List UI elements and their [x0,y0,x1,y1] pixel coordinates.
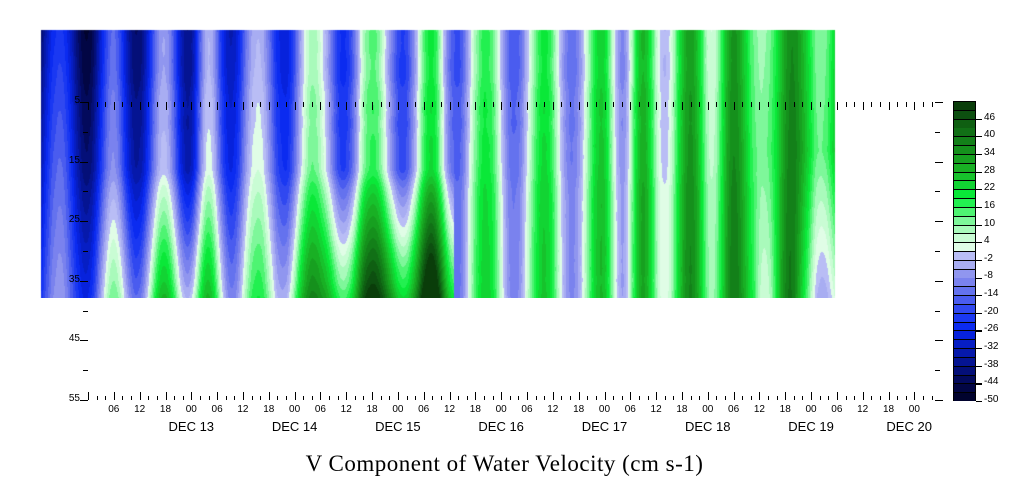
x-tick-bottom [570,396,571,401]
x-tick-top [699,102,700,107]
x-tick-top [630,102,631,110]
colorbar-band [954,181,975,189]
colorbar-band [954,252,975,260]
x-day-label: DEC 19 [766,419,856,434]
x-tick-bottom [200,396,201,401]
x-tick-bottom [932,396,933,401]
x-tick-bottom [510,396,511,401]
colorbar-tick [976,401,982,402]
x-tick-top [613,102,614,107]
y-tick-minor-right [935,370,940,371]
x-tick-top [820,102,821,107]
x-tick-top [854,102,855,107]
y-tick-minor-right [935,251,940,252]
x-hour-label: 06 [720,404,748,415]
x-hour-label: 12 [126,404,154,415]
colorbar-tick-label: 10 [984,218,995,229]
colorbar-tick-label: 46 [984,112,995,123]
x-tick-top [114,102,115,110]
colorbar-tick-label: -20 [984,306,998,317]
colorbar-tick-label: -44 [984,376,998,387]
x-tick-bottom [243,392,244,400]
colorbar-band [954,120,975,128]
y-tick-minor [83,311,88,312]
colorbar-tick [976,295,982,296]
x-hour-label: 12 [436,404,464,415]
x-tick-top [544,102,545,107]
x-tick-top [424,102,425,110]
x-tick-bottom [656,392,657,400]
x-tick-top [691,102,692,107]
x-tick-bottom [897,396,898,401]
x-tick-bottom [475,392,476,400]
x-tick-top [493,102,494,107]
x-day-label: DEC 16 [456,419,546,434]
colorbar-tick [976,172,982,173]
x-tick-bottom [329,396,330,401]
x-tick-top [518,102,519,107]
x-tick-top [501,102,502,110]
x-tick-bottom [820,396,821,401]
x-tick-bottom [174,396,175,401]
x-tick-top [871,102,872,107]
x-tick-bottom [579,392,580,400]
x-tick-top [260,102,261,107]
colorbar-band [954,226,975,234]
x-hour-label: 06 [100,404,128,415]
x-tick-top [312,102,313,107]
colorbar-band [954,376,975,384]
y-tick-major [80,340,88,341]
x-tick-bottom [846,396,847,401]
y-tick-label: 45 [48,333,80,344]
colorbar-tick [976,366,982,367]
colorbar-tick-label: -14 [984,288,998,299]
x-tick-top [742,102,743,107]
x-hour-label: 18 [461,404,489,415]
x-tick-top [777,102,778,107]
x-tick-top [389,102,390,107]
x-hour-label: 18 [255,404,283,415]
x-hour-label: 00 [900,404,928,415]
x-tick-top [527,102,528,110]
x-tick-top [622,102,623,107]
x-tick-bottom [501,392,502,400]
colorbar-band [954,393,975,401]
x-tick-bottom [209,396,210,401]
x-tick-bottom [450,392,451,400]
colorbar-band [954,331,975,339]
x-tick-top [226,102,227,107]
colorbar-band [954,111,975,119]
x-tick-bottom [716,396,717,401]
x-tick-bottom [157,396,158,401]
x-tick-top [665,102,666,107]
x-tick-top [441,102,442,107]
x-tick-bottom [811,392,812,400]
x-day-label: DEC 14 [250,419,340,434]
x-tick-top [579,102,580,110]
x-hour-label: 12 [642,404,670,415]
x-tick-bottom [742,396,743,401]
x-tick-top [458,102,459,107]
colorbar-band [954,340,975,348]
x-tick-bottom [277,396,278,401]
x-hour-label: 12 [229,404,257,415]
x-tick-top [605,102,606,110]
colorbar-band [954,217,975,225]
colorbar-tick [976,278,982,279]
x-tick-top [932,102,933,107]
x-hour-label: 12 [849,404,877,415]
colorbar-tick-label: -32 [984,341,998,352]
x-tick-top [596,102,597,107]
x-tick-top [811,102,812,110]
x-tick-bottom [355,396,356,401]
x-tick-top [346,102,347,110]
x-tick-top [363,102,364,107]
x-tick-top [148,102,149,107]
y-tick-label: 5 [48,95,80,106]
colorbar-tick-label: -26 [984,323,998,334]
x-tick-bottom [828,396,829,401]
x-tick-top [252,102,253,107]
x-tick-top [682,102,683,110]
x-tick-top [673,102,674,107]
y-tick-minor-right [935,191,940,192]
colorbar-band [954,164,975,172]
y-tick-label: 55 [48,393,80,404]
x-tick-top [785,102,786,110]
x-hour-label: 18 [668,404,696,415]
colorbar-band [954,146,975,154]
x-day-label: DEC 20 [864,419,954,434]
x-tick-top [174,102,175,107]
colorbar-tick [976,154,982,155]
x-tick-top [656,102,657,110]
x-tick-bottom [914,392,915,400]
x-tick-top [338,102,339,107]
y-tick-major-right [935,102,943,103]
colorbar-band [954,278,975,286]
x-tick-bottom [260,396,261,401]
colorbar-band [954,261,975,269]
x-tick-top [157,102,158,107]
y-tick-major-right [935,281,943,282]
x-tick-bottom [639,396,640,401]
x-tick-top [398,102,399,110]
x-hour-label: 00 [281,404,309,415]
colorbar-band [954,305,975,313]
x-tick-bottom [544,396,545,401]
colorbar-band [954,314,975,322]
colorbar-band [954,199,975,207]
x-hour-label: 00 [177,404,205,415]
x-tick-top [536,102,537,107]
x-tick-bottom [880,396,881,401]
y-tick-label: 15 [48,155,80,166]
y-tick-major-right [935,221,943,222]
colorbar-band [954,137,975,145]
x-tick-bottom [338,396,339,401]
x-tick-top [863,102,864,110]
colorbar-band [954,128,975,136]
x-tick-bottom [777,396,778,401]
x-tick-top [88,102,89,110]
y-tick-label: 25 [48,214,80,225]
colorbar-tick [976,260,982,261]
x-hour-label: 06 [203,404,231,415]
x-day-label: DEC 15 [353,419,443,434]
x-hour-label: 00 [590,404,618,415]
x-tick-bottom [863,392,864,400]
colorbar-band [954,323,975,331]
x-hour-label: 06 [823,404,851,415]
x-tick-top [329,102,330,107]
x-tick-bottom [269,392,270,400]
x-tick-bottom [312,396,313,401]
x-tick-top [467,102,468,107]
colorbar-tick-label: 22 [984,182,995,193]
colorbar-band [954,243,975,251]
x-tick-bottom [183,396,184,401]
x-tick-bottom [923,396,924,401]
x-tick-top [217,102,218,110]
x-tick-bottom [320,392,321,400]
y-tick-minor [83,370,88,371]
x-tick-bottom [725,396,726,401]
x-tick-top [794,102,795,107]
x-hour-label: 06 [616,404,644,415]
x-hour-label: 12 [539,404,567,415]
x-tick-top [923,102,924,107]
colorbar-tick [976,189,982,190]
x-tick-bottom [561,396,562,401]
colorbar-band [954,102,975,110]
x-tick-bottom [493,396,494,401]
x-tick-bottom [407,396,408,401]
x-tick-top [303,102,304,107]
colorbar-band [954,349,975,357]
x-tick-top [381,102,382,107]
x-tick-bottom [346,392,347,400]
colorbar-tick [976,242,982,243]
x-hour-label: 06 [306,404,334,415]
colorbar-band [954,367,975,375]
x-tick-bottom [751,396,752,401]
x-tick-top [286,102,287,107]
x-hour-label: 18 [565,404,593,415]
x-tick-top [475,102,476,110]
colorbar-band [954,208,975,216]
y-tick-minor [83,132,88,133]
x-tick-top [105,102,106,107]
y-tick-minor [83,251,88,252]
x-hour-label: 00 [797,404,825,415]
x-tick-bottom [648,396,649,401]
x-tick-bottom [191,392,192,400]
x-hour-label: 00 [694,404,722,415]
x-hour-label: 00 [487,404,515,415]
velocity-heatmap-plot [0,0,847,298]
x-tick-bottom [381,396,382,401]
x-hour-label: 18 [151,404,179,415]
colorbar-band [954,155,975,163]
x-tick-bottom [837,392,838,400]
x-tick-top [432,102,433,107]
x-tick-top [234,102,235,107]
x-tick-top [708,102,709,110]
x-tick-top [768,102,769,107]
x-tick-top [716,102,717,107]
colorbar-tick [976,383,982,384]
x-tick-bottom [527,392,528,400]
colorbar-tick-label: 16 [984,200,995,211]
colorbar-band [954,190,975,198]
x-tick-top [734,102,735,110]
x-tick-bottom [794,396,795,401]
x-hour-label: 18 [771,404,799,415]
x-tick-top [355,102,356,107]
y-tick-major-right [935,162,943,163]
colorbar-tick [976,313,982,314]
x-tick-bottom [553,392,554,400]
figure-caption: V Component of Water Velocity (cm s-1) [0,451,1009,477]
x-tick-top [561,102,562,107]
y-tick-major-right [935,340,943,341]
x-tick-bottom [854,396,855,401]
x-tick-top [200,102,201,107]
x-tick-top [484,102,485,107]
x-tick-bottom [398,392,399,400]
x-tick-bottom [131,396,132,401]
x-tick-bottom [613,396,614,401]
x-tick-bottom [587,396,588,401]
x-tick-bottom [234,396,235,401]
colorbar-tick-label: -38 [984,359,998,370]
x-tick-top [906,102,907,107]
colorbar-band [954,270,975,278]
x-tick-bottom [484,396,485,401]
y-tick-major [80,281,88,282]
x-tick-bottom [518,396,519,401]
x-tick-bottom [217,392,218,400]
x-tick-top [759,102,760,110]
x-tick-bottom [140,392,141,400]
colorbar-band [954,358,975,366]
colorbar-tick [976,207,982,208]
x-tick-top [140,102,141,110]
x-tick-top [880,102,881,107]
colorbar-band [954,234,975,242]
x-tick-bottom [691,396,692,401]
x-tick-top [209,102,210,107]
x-tick-bottom [97,396,98,401]
x-tick-bottom [768,396,769,401]
x-tick-top [889,102,890,110]
velocity-field-canvas [0,0,847,298]
x-day-label: DEC 13 [146,419,236,434]
x-tick-top [320,102,321,110]
x-tick-bottom [871,396,872,401]
colorbar-tick-label: -2 [984,253,993,264]
y-tick-minor [83,191,88,192]
x-tick-top [846,102,847,107]
y-tick-label: 35 [48,274,80,285]
x-tick-bottom [226,396,227,401]
x-hour-label: 18 [358,404,386,415]
x-hour-label: 00 [384,404,412,415]
x-tick-bottom [88,392,89,400]
colorbar-tick [976,225,982,226]
x-day-label: DEC 17 [559,419,649,434]
x-tick-bottom [708,392,709,400]
x-tick-top [131,102,132,107]
x-tick-bottom [630,392,631,400]
x-tick-top [648,102,649,107]
x-hour-label: 06 [513,404,541,415]
x-tick-top [587,102,588,107]
x-day-label: DEC 18 [663,419,753,434]
x-tick-bottom [906,396,907,401]
x-tick-bottom [682,392,683,400]
x-tick-bottom [372,392,373,400]
x-tick-bottom [759,392,760,400]
y-tick-major [80,102,88,103]
y-tick-major [80,162,88,163]
x-tick-bottom [605,392,606,400]
colorbar-tick [976,119,982,120]
x-tick-bottom [415,396,416,401]
colorbar-tick-label: 40 [984,129,995,140]
x-tick-top [802,102,803,107]
y-tick-minor-right [935,132,940,133]
x-tick-bottom [105,396,106,401]
x-tick-bottom [536,396,537,401]
x-tick-top [97,102,98,107]
x-hour-label: 06 [410,404,438,415]
x-tick-top [183,102,184,107]
x-tick-bottom [303,396,304,401]
x-tick-bottom [295,392,296,400]
x-hour-label: 18 [875,404,903,415]
colorbar-tick-label: 28 [984,165,995,176]
x-hour-label: 12 [332,404,360,415]
y-tick-minor-right [935,311,940,312]
x-tick-bottom [424,392,425,400]
colorbar-band [954,296,975,304]
x-tick-bottom [441,396,442,401]
x-tick-top [570,102,571,107]
x-tick-top [725,102,726,107]
x-tick-top [191,102,192,110]
colorbar-band [954,173,975,181]
x-tick-bottom [458,396,459,401]
colorbar-tick [976,348,982,349]
colorbar-tick-label: 4 [984,235,990,246]
colorbar-tick-label: -50 [984,394,998,405]
x-hour-label: 12 [745,404,773,415]
x-tick-top [837,102,838,110]
x-tick-bottom [122,396,123,401]
x-tick-top [295,102,296,110]
x-tick-bottom [889,392,890,400]
x-tick-bottom [389,396,390,401]
x-tick-top [407,102,408,107]
x-tick-top [751,102,752,107]
y-tick-major [80,221,88,222]
x-tick-top [897,102,898,107]
